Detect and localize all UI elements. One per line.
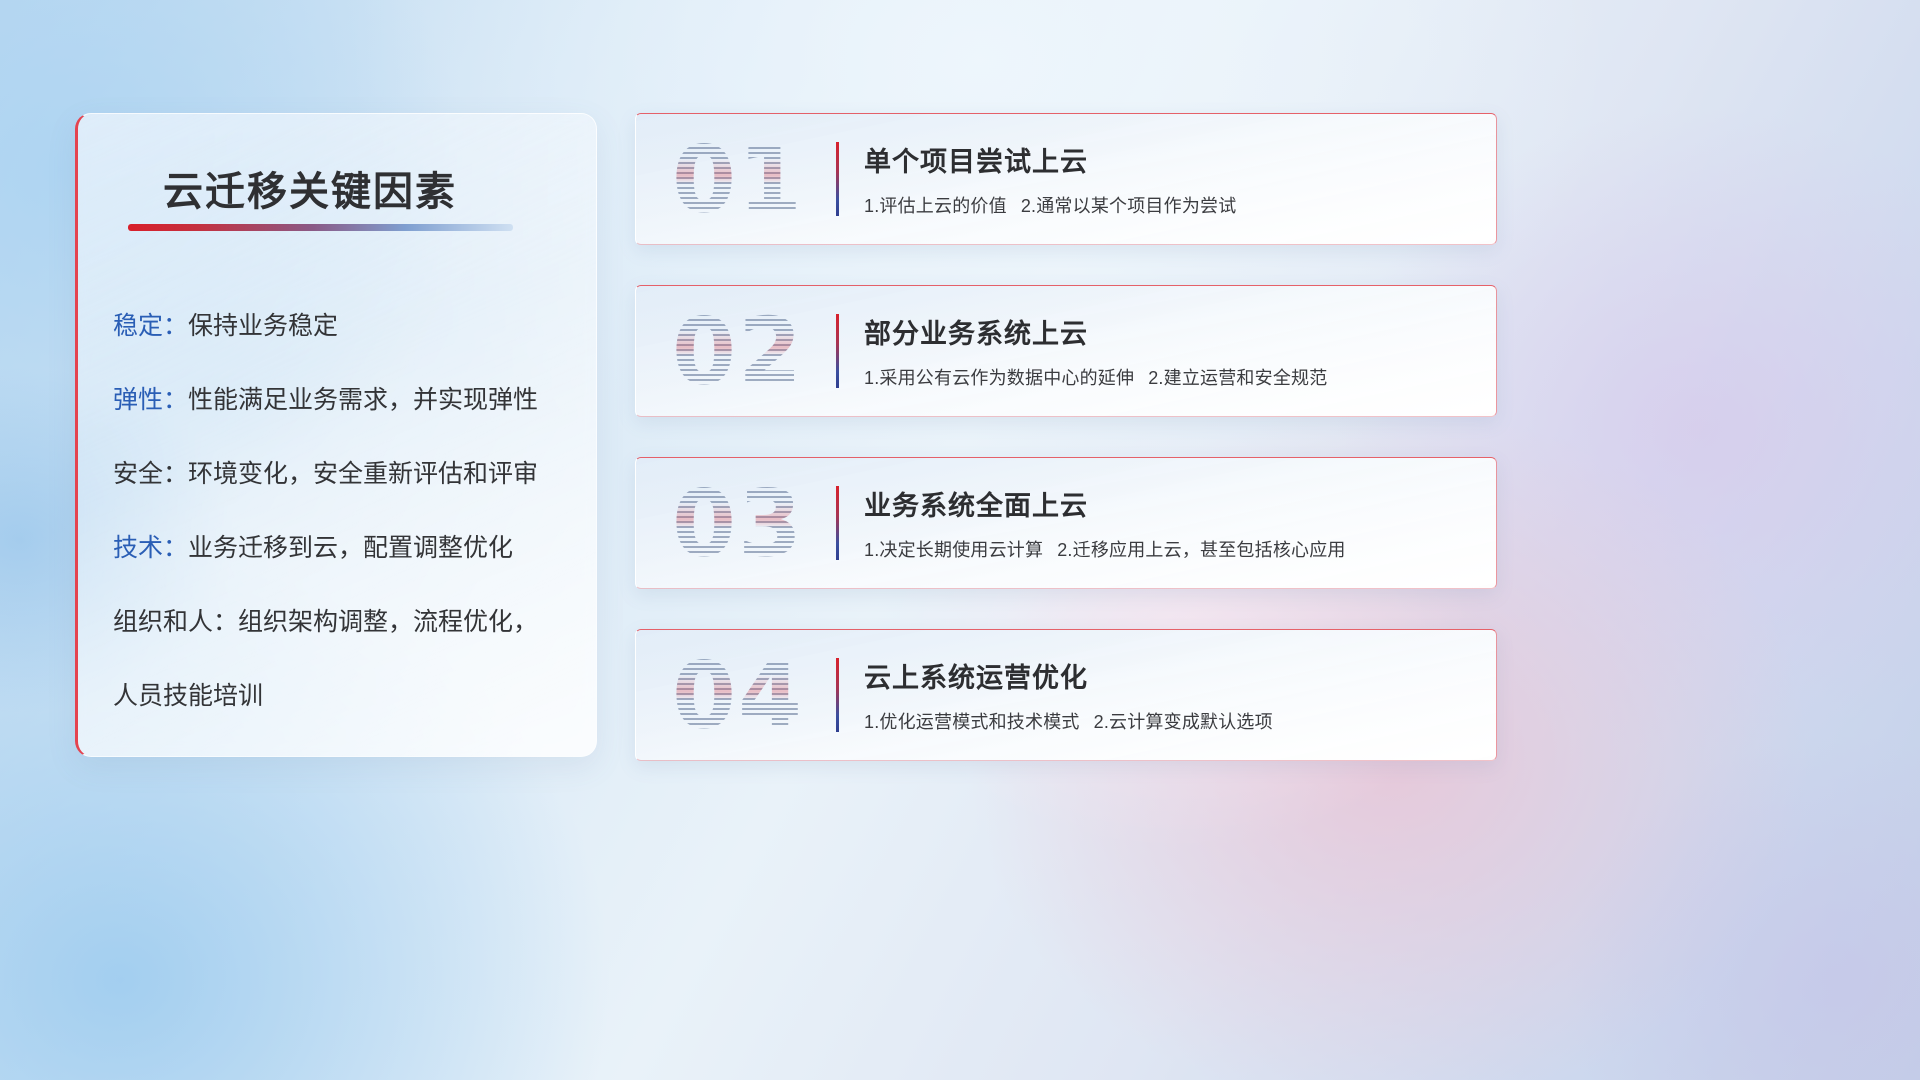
- stage-card-04[interactable]: 04 04 云上系统运营优化 1.优化运营模式和技术模式2.云计算变成默认选项: [635, 629, 1497, 761]
- stage-number-04: 04: [658, 643, 818, 748]
- list-item-text: 业务迁移到云，配置调整优化: [188, 534, 513, 562]
- list-item: 组织和人：组织架构调整，流程优化，: [113, 610, 578, 635]
- accent-divider-bar: [836, 486, 839, 560]
- list-item-label: 技术：: [113, 534, 188, 562]
- stage-title: 单个项目尝试上云: [864, 140, 1088, 179]
- stage-desc-item-2: 2.迁移应用上云，甚至包括核心应用: [1057, 540, 1345, 560]
- list-item-continued: 人员技能培训: [113, 684, 578, 709]
- list-item-label: 稳定：: [113, 312, 188, 340]
- list-item-label: 安全：: [113, 460, 188, 488]
- title-underline-gradient: [128, 224, 513, 231]
- key-factors-list: 稳定：保持业务稳定 弹性：性能满足业务需求，并实现弹性 安全：环境变化，安全重新…: [113, 314, 578, 757]
- stage-description: 1.优化运营模式和技术模式2.云计算变成默认选项: [864, 708, 1273, 734]
- accent-divider-bar: [836, 658, 839, 732]
- list-item: 稳定：保持业务稳定: [113, 314, 578, 339]
- stage-desc-item-1: 1.优化运营模式和技术模式: [864, 712, 1080, 732]
- stage-desc-item-2: 2.通常以某个项目作为尝试: [1021, 196, 1237, 216]
- list-item: 安全：环境变化，安全重新评估和评审: [113, 462, 578, 487]
- stage-card-02[interactable]: 02 02 部分业务系统上云 1.采用公有云作为数据中心的延伸2.建立运营和安全…: [635, 285, 1497, 417]
- stage-number-02: 02: [658, 299, 818, 404]
- list-item: 技术：业务迁移到云，配置调整优化: [113, 536, 578, 561]
- list-item-text: 环境变化，安全重新评估和评审: [188, 460, 538, 488]
- page-title: 云迁移关键因素: [163, 159, 457, 217]
- stage-desc-item-1: 1.采用公有云作为数据中心的延伸: [864, 368, 1134, 388]
- list-item-text: 保持业务稳定: [188, 312, 338, 340]
- stage-number-01: 01: [658, 127, 818, 232]
- list-item-label: 组织和人：: [113, 608, 238, 636]
- stage-description: 1.评估上云的价值2.通常以某个项目作为尝试: [864, 192, 1236, 218]
- stage-description: 1.采用公有云作为数据中心的延伸2.建立运营和安全规范: [864, 364, 1327, 390]
- list-item-text: 组织架构调整，流程优化，: [238, 608, 538, 636]
- stage-number-03: 03: [658, 471, 818, 576]
- list-item-label: 弹性：: [113, 386, 188, 414]
- key-factors-panel: 云迁移关键因素 稳定：保持业务稳定 弹性：性能满足业务需求，并实现弹性 安全：环…: [75, 113, 597, 757]
- list-item-text: 性能满足业务需求，并实现弹性: [188, 386, 538, 414]
- list-item: 弹性：性能满足业务需求，并实现弹性: [113, 388, 578, 413]
- stage-title: 部分业务系统上云: [864, 312, 1088, 351]
- stage-card-01[interactable]: 01 01 单个项目尝试上云 1.评估上云的价值2.通常以某个项目作为尝试: [635, 113, 1497, 245]
- stage-card-03[interactable]: 03 03 业务系统全面上云 1.决定长期使用云计算2.迁移应用上云，甚至包括核…: [635, 457, 1497, 589]
- stage-description: 1.决定长期使用云计算2.迁移应用上云，甚至包括核心应用: [864, 536, 1346, 562]
- stage-desc-item-2: 2.建立运营和安全规范: [1148, 368, 1327, 388]
- stage-desc-item-2: 2.云计算变成默认选项: [1094, 712, 1273, 732]
- list-item-text: 人员技能培训: [113, 682, 263, 710]
- stage-desc-item-1: 1.评估上云的价值: [864, 196, 1007, 216]
- accent-divider-bar: [836, 142, 839, 216]
- stage-title: 云上系统运营优化: [864, 656, 1088, 695]
- stage-desc-item-1: 1.决定长期使用云计算: [864, 540, 1043, 560]
- stage-title: 业务系统全面上云: [864, 484, 1088, 523]
- accent-divider-bar: [836, 314, 839, 388]
